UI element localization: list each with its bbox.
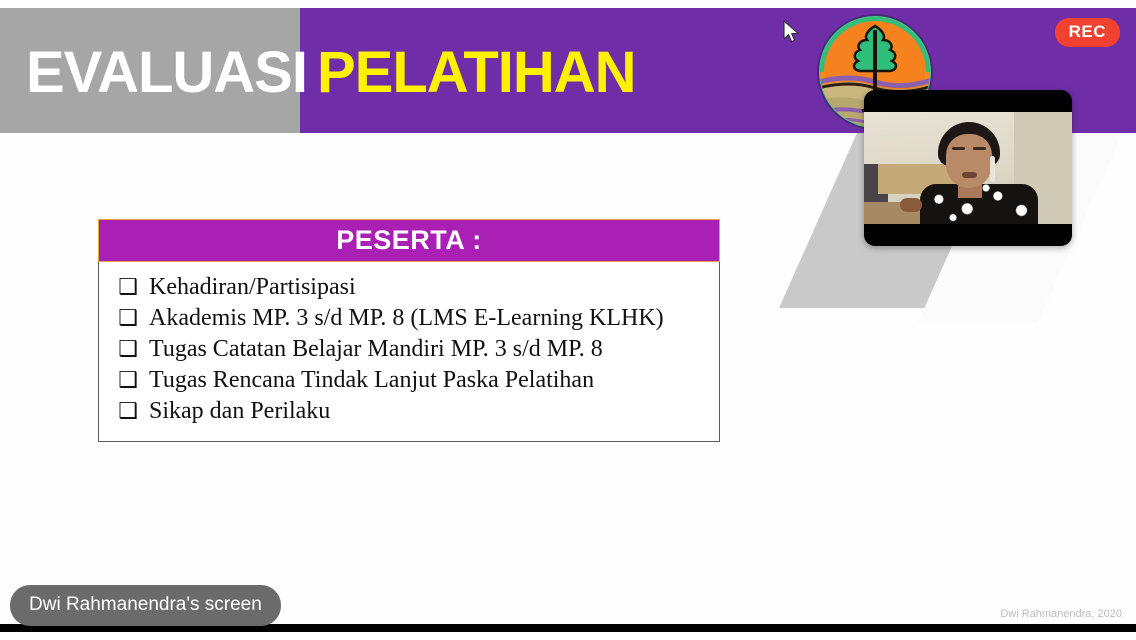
video-person-earphone <box>990 156 995 182</box>
peserta-card-title: PESERTA : <box>336 225 482 256</box>
list-item: ❑ Tugas Rencana Tindak Lanjut Paska Pela… <box>99 367 719 398</box>
peserta-card-body: ❑ Kehadiran/Partisipasi ❑ Akademis MP. 3… <box>98 262 720 442</box>
video-person-eye-right <box>973 147 986 150</box>
screen-share-viewport: EVALUASIPELATIHAN <box>0 0 1136 640</box>
video-person-mouth <box>962 172 977 178</box>
peserta-card-header: PESERTA : <box>98 219 720 262</box>
video-person-face <box>946 134 992 188</box>
mouse-cursor-icon <box>783 20 801 51</box>
list-item-label: Sikap dan Perilaku <box>149 398 330 425</box>
list-item-label: Akademis MP. 3 s/d MP. 8 (LMS E-Learning… <box>149 305 664 332</box>
screen-share-label: Dwi Rahmanendra's screen <box>10 585 281 626</box>
list-item: ❑ Akademis MP. 3 s/d MP. 8 (LMS E-Learni… <box>99 305 719 336</box>
list-item-label: Kehadiran/Partisipasi <box>149 274 356 301</box>
list-item-label: Tugas Rencana Tindak Lanjut Paska Pelati… <box>149 367 594 394</box>
peserta-card: PESERTA : ❑ Kehadiran/Partisipasi ❑ Akad… <box>98 219 720 442</box>
author-watermark: Dwi Rahmanendra, 2020 <box>1000 608 1122 620</box>
self-view-video-tile[interactable] <box>864 90 1072 246</box>
checkbox-square-icon: ❑ <box>107 277 149 299</box>
recording-status-badge: REC <box>1055 18 1120 47</box>
page-title-part-2: PELATIHAN <box>317 40 636 105</box>
video-person-eye-left <box>952 147 965 150</box>
video-person-hand <box>900 198 922 212</box>
checkbox-square-icon: ❑ <box>107 308 149 330</box>
page-title-part-1: EVALUASI <box>26 40 307 105</box>
self-view-video-frame <box>864 112 1072 224</box>
checkbox-square-icon: ❑ <box>107 370 149 392</box>
page-title: EVALUASIPELATIHAN <box>26 42 636 104</box>
list-item-label: Tugas Catatan Belajar Mandiri MP. 3 s/d … <box>149 336 603 363</box>
list-item: ❑ Tugas Catatan Belajar Mandiri MP. 3 s/… <box>99 336 719 367</box>
checkbox-square-icon: ❑ <box>107 401 149 423</box>
list-item: ❑ Kehadiran/Partisipasi <box>99 274 719 305</box>
list-item: ❑ Sikap dan Perilaku <box>99 398 719 429</box>
checkbox-square-icon: ❑ <box>107 339 149 361</box>
